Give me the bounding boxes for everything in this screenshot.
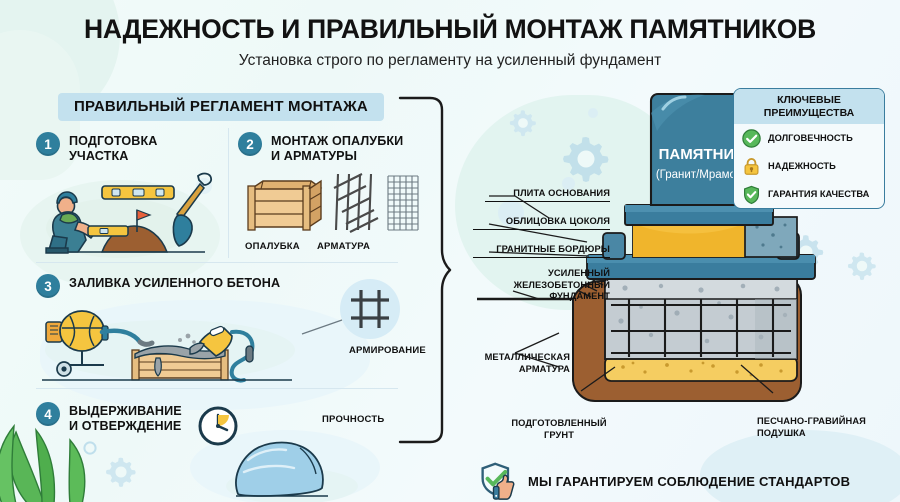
label-reinforced-foundation: УСИЛЕННЫЙЖЕЛЕЗОБЕТОННЫЙФУНДАМЕНТ	[470, 268, 610, 303]
guarantee-banner: МЫ ГАРАНТИРУЕМ СОБЛЮДЕНИЕ СТАНДАРТОВ	[478, 462, 850, 500]
gear-icon	[104, 455, 138, 489]
formwork-crate-illustration	[243, 173, 323, 235]
shield-check-icon	[742, 185, 761, 204]
advantages-card: КЛЮЧЕВЫЕПРЕИМУЩЕСТВА ДОЛГОВЕЧНОСТЬ НАДЕЖ…	[733, 88, 885, 209]
infographic-root: НАДЕЖНОСТЬ И ПРАВИЛЬНЫЙ МОНТАЖ ПАМЯТНИКО…	[0, 0, 900, 502]
label-base-plate: ПЛИТА ОСНОВАНИЯ	[485, 188, 610, 202]
label-plinth-facing: ОБЛИЦОВКА ЦОКОЛЯ	[473, 216, 610, 230]
step-number-badge: 3	[36, 274, 60, 298]
rebar-mesh-illustration	[332, 172, 380, 234]
advantage-item-reliability: НАДЕЖНОСТЬ	[734, 152, 884, 180]
step-title: ЗАЛИВКА УСИЛЕННОГО БЕТОНА	[69, 274, 280, 291]
advantage-label: НАДЕЖНОСТЬ	[768, 161, 836, 171]
reinforcement-badge-icon	[339, 278, 401, 340]
step-2: 2 МОНТАЖ ОПАЛУБКИИ АРМАТУРЫ	[238, 132, 408, 165]
label-prepared-soil: ПОДГОТОВЛЕННЫЙГРУНТ	[500, 418, 618, 441]
leader-line	[300, 316, 344, 336]
page-subtitle: Установка строго по регламенту на усилен…	[0, 52, 900, 70]
advantage-item-durability: ДОЛГОВЕЧНОСТЬ	[734, 124, 884, 152]
regulation-banner: ПРАВИЛЬНЫЙ РЕГЛАМЕНТ МОНТАЖА	[58, 93, 384, 121]
step-1: 1 ПОДГОТОВКАУЧАСТКА	[36, 132, 216, 165]
label-metal-rebar: МЕТАЛЛИЧЕСКАЯАРМАТУРА	[460, 352, 570, 375]
formwork-caption: ОПАЛУБКА	[245, 241, 300, 252]
advantages-heading: КЛЮЧЕВЫЕПРЕИМУЩЕСТВА	[734, 89, 884, 124]
fine-grid-illustration	[386, 174, 420, 232]
advantage-label: ГАРАНТИЯ КАЧЕСТВА	[768, 189, 869, 199]
step-3-illustration	[40, 298, 340, 386]
step-title: МОНТАЖ ОПАЛУБКИИ АРМАТУРЫ	[271, 132, 403, 165]
covered-block-illustration	[222, 418, 372, 502]
section-divider	[228, 128, 229, 258]
step-title: ПОДГОТОВКАУЧАСТКА	[69, 132, 157, 165]
lock-icon	[742, 157, 761, 176]
step-3: 3 ЗАЛИВКА УСИЛЕННОГО БЕТОНА	[36, 274, 316, 298]
advantage-item-quality-guarantee: ГАРАНТИЯ КАЧЕСТВА	[734, 180, 884, 208]
label-sand-gravel: ПЕСЧАНО-ГРАВИЙНАЯПОДУШКА	[757, 416, 897, 439]
page-title: НАДЕЖНОСТЬ И ПРАВИЛЬНЫЙ МОНТАЖ ПАМЯТНИКО…	[0, 14, 900, 45]
advantage-label: ДОЛГОВЕЧНОСТЬ	[768, 133, 853, 143]
check-circle-icon	[742, 129, 761, 148]
label-granite-curbs: ГРАНИТНЫЕ БОРДЮРЫ	[473, 244, 610, 258]
section-divider	[36, 262, 398, 263]
shield-thumbsup-icon	[478, 462, 518, 500]
strength-caption: ПРОЧНОСТЬ	[322, 414, 384, 425]
step-1-illustration	[40, 170, 220, 262]
reinforcement-caption: АРМИРОВАНИЕ	[349, 345, 426, 356]
step-4: 4 ВЫДЕРЖИВАНИЕИ ОТВЕРЖДЕНИЕ	[36, 402, 216, 435]
guarantee-text: МЫ ГАРАНТИРУЕМ СОБЛЮДЕНИЕ СТАНДАРТОВ	[528, 474, 850, 489]
step-number-badge: 1	[36, 132, 60, 156]
step-number-badge: 4	[36, 402, 60, 426]
step-number-badge: 2	[238, 132, 262, 156]
section-divider	[36, 388, 398, 389]
rebar-caption: АРМАТУРА	[317, 241, 370, 252]
monument-title: ПАМЯТНИК	[659, 146, 745, 163]
step-title: ВЫДЕРЖИВАНИЕИ ОТВЕРЖДЕНИЕ	[69, 402, 182, 435]
